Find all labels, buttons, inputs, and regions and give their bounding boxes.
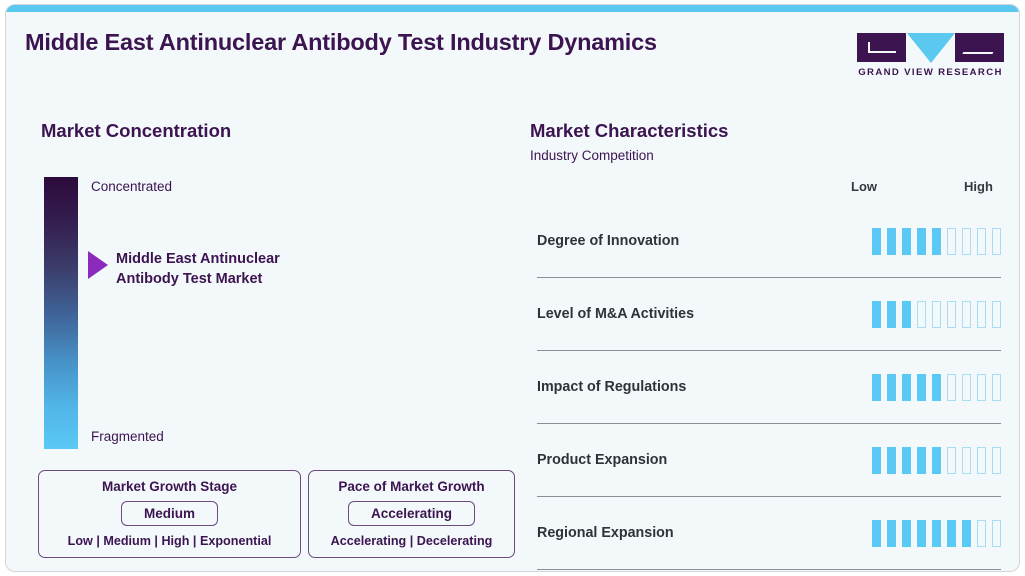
meter-segment-empty	[992, 374, 1002, 401]
market-characteristics-subheading: Industry Competition	[530, 148, 654, 163]
meter-segment-filled	[872, 301, 882, 328]
characteristic-row: Degree of Innovation	[537, 205, 1001, 278]
meter-segment-filled	[902, 374, 912, 401]
meter-segment-empty	[962, 374, 972, 401]
characteristic-row: Regional Expansion	[537, 497, 1001, 570]
meter-segment-filled	[872, 374, 882, 401]
market-position-label: Middle East Antinuclear Antibody Test Ma…	[116, 249, 346, 289]
characteristic-row: Impact of Regulations	[537, 351, 1001, 424]
pace-of-market-growth-title: Pace of Market Growth	[309, 479, 514, 494]
characteristic-meter	[872, 228, 1002, 255]
meter-segment-empty	[962, 447, 972, 474]
characteristic-label: Level of M&A Activities	[537, 306, 872, 322]
characteristics-list: Degree of InnovationLevel of M&A Activit…	[537, 205, 1001, 570]
meter-axis-low-label: Low	[851, 179, 877, 194]
meter-segment-empty	[977, 301, 987, 328]
meter-segment-filled	[917, 520, 927, 547]
meter-segment-filled	[947, 520, 957, 547]
concentration-gradient-scale	[44, 177, 78, 449]
meter-segment-filled	[872, 520, 882, 547]
meter-segment-empty	[977, 447, 987, 474]
meter-segment-filled	[887, 447, 897, 474]
meter-segment-filled	[917, 374, 927, 401]
meter-segment-filled	[902, 301, 912, 328]
pace-of-market-growth-value: Accelerating	[348, 501, 475, 526]
market-growth-stage-scale: Low | Medium | High | Exponential	[39, 534, 300, 548]
market-concentration-heading: Market Concentration	[41, 120, 231, 142]
meter-segment-filled	[917, 228, 927, 255]
meter-segment-empty	[962, 301, 972, 328]
characteristic-meter	[872, 447, 1002, 474]
page-title: Middle East Antinuclear Antibody Test In…	[25, 27, 665, 58]
meter-segment-filled	[932, 520, 942, 547]
grand-view-research-logo: GRAND VIEW RESEARCH	[857, 33, 1004, 78]
meter-segment-filled	[902, 520, 912, 547]
logo-wordmark: GRAND VIEW RESEARCH	[857, 67, 1004, 78]
characteristic-meter	[872, 301, 1002, 328]
meter-segment-empty	[947, 374, 957, 401]
characteristic-label: Impact of Regulations	[537, 379, 872, 395]
meter-axis-high-label: High	[964, 179, 993, 194]
meter-segment-filled	[962, 520, 972, 547]
characteristic-row: Level of M&A Activities	[537, 278, 1001, 351]
characteristic-label: Regional Expansion	[537, 525, 872, 541]
meter-segment-empty	[992, 447, 1002, 474]
scale-top-label: Concentrated	[91, 179, 172, 194]
meter-segment-filled	[902, 447, 912, 474]
characteristic-meter	[872, 374, 1002, 401]
meter-segment-empty	[932, 301, 942, 328]
market-characteristics-heading: Market Characteristics	[530, 120, 728, 142]
meter-segment-empty	[947, 447, 957, 474]
meter-segment-filled	[887, 228, 897, 255]
meter-segment-empty	[977, 520, 987, 547]
logo-marks	[857, 33, 1004, 62]
market-growth-stage-box: Market Growth Stage Medium Low | Medium …	[38, 470, 301, 558]
meter-segment-empty	[947, 228, 957, 255]
scale-bottom-label: Fragmented	[91, 429, 164, 444]
meter-segment-filled	[872, 228, 882, 255]
market-growth-stage-title: Market Growth Stage	[39, 479, 300, 494]
meter-segment-empty	[977, 374, 987, 401]
market-growth-stage-value: Medium	[121, 501, 218, 526]
top-accent-bar	[6, 5, 1019, 12]
meter-segment-filled	[887, 301, 897, 328]
meter-segment-empty	[992, 228, 1002, 255]
characteristic-label: Product Expansion	[537, 452, 872, 468]
characteristic-meter	[872, 520, 1002, 547]
meter-segment-filled	[932, 228, 942, 255]
meter-segment-empty	[917, 301, 927, 328]
meter-segment-empty	[977, 228, 987, 255]
meter-segment-filled	[887, 374, 897, 401]
market-position-arrow-icon	[88, 251, 108, 279]
meter-segment-empty	[992, 520, 1002, 547]
meter-segment-filled	[932, 374, 942, 401]
meter-segment-empty	[947, 301, 957, 328]
meter-segment-filled	[902, 228, 912, 255]
logo-right-block-icon	[955, 33, 1004, 62]
pace-of-market-growth-scale: Accelerating | Decelerating	[309, 534, 514, 548]
infographic-card: Middle East Antinuclear Antibody Test In…	[5, 4, 1020, 572]
meter-segment-filled	[917, 447, 927, 474]
logo-left-block-icon	[857, 33, 906, 62]
meter-segment-filled	[872, 447, 882, 474]
meter-segment-filled	[887, 520, 897, 547]
characteristic-row: Product Expansion	[537, 424, 1001, 497]
meter-segment-empty	[992, 301, 1002, 328]
meter-segment-filled	[932, 447, 942, 474]
meter-segment-empty	[962, 228, 972, 255]
characteristic-label: Degree of Innovation	[537, 233, 872, 249]
pace-of-market-growth-box: Pace of Market Growth Accelerating Accel…	[308, 470, 515, 558]
logo-triangle-icon	[907, 33, 955, 63]
